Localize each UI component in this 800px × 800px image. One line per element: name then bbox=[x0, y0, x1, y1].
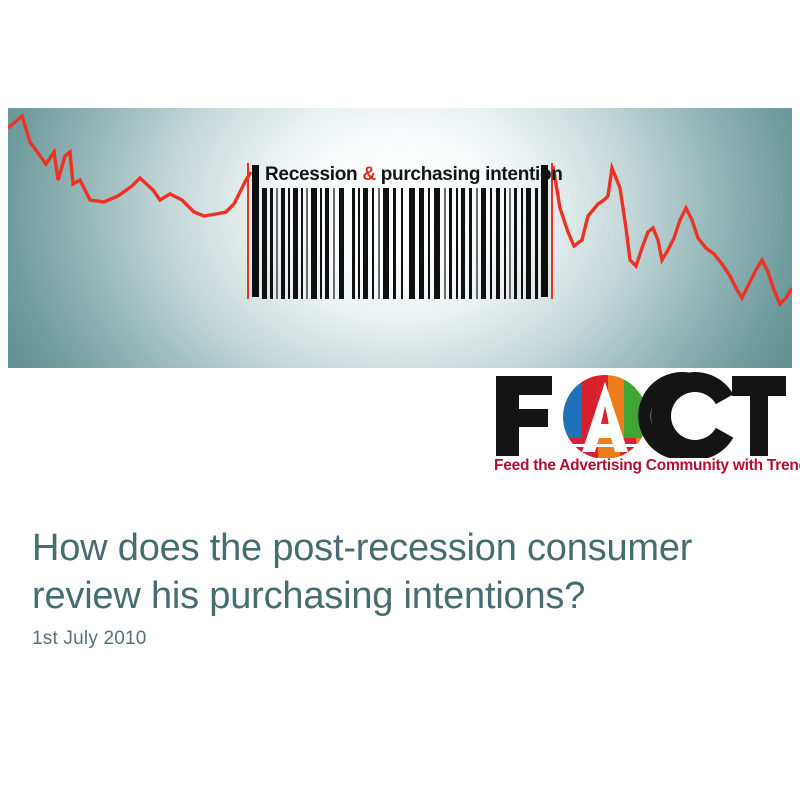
barcode-bar bbox=[496, 188, 500, 299]
logo-letter-f bbox=[496, 376, 552, 456]
trend-line-right bbox=[553, 166, 792, 304]
barcode-bar bbox=[378, 188, 380, 299]
barcode-bar bbox=[444, 188, 446, 299]
barcode-guard-red-left bbox=[247, 163, 249, 299]
barcode-bar bbox=[352, 188, 355, 299]
barcode-bar bbox=[333, 188, 335, 299]
barcode-bar bbox=[401, 188, 403, 299]
fact-tagline: Feed the Advertising Community with Tren… bbox=[494, 457, 790, 475]
barcode-bar bbox=[393, 188, 396, 299]
barcode-bar bbox=[535, 188, 538, 299]
barcode-bar bbox=[281, 188, 285, 299]
barcode-bar bbox=[409, 188, 415, 299]
slide-page: Recession & purchasing intention bbox=[0, 0, 800, 800]
barcode-bar bbox=[372, 188, 374, 299]
recession-banner: Recession & purchasing intention bbox=[8, 108, 792, 368]
page-title-line-2: review his purchasing intentions? bbox=[32, 572, 772, 620]
barcode-bar bbox=[270, 188, 273, 299]
barcode-bar bbox=[428, 188, 430, 299]
barcode-bar bbox=[301, 188, 303, 299]
page-title: How does the post-recession consumer rev… bbox=[32, 524, 772, 620]
barcode-bar bbox=[509, 188, 511, 299]
barcode-bar bbox=[461, 188, 465, 299]
barcode-bar bbox=[363, 188, 368, 299]
barcode-bars bbox=[262, 188, 539, 299]
logo-letter-c bbox=[638, 372, 748, 458]
page-title-line-1: How does the post-recession consumer bbox=[32, 524, 772, 572]
barcode-bar bbox=[476, 188, 478, 299]
barcode-bar bbox=[521, 188, 523, 299]
barcode-bar bbox=[514, 188, 517, 299]
fact-letters-graphic bbox=[492, 372, 790, 458]
barcode-bar bbox=[434, 188, 440, 299]
barcode-bar bbox=[358, 188, 360, 299]
barcode-bar bbox=[383, 188, 389, 299]
barcode-caption-ampersand: & bbox=[362, 164, 375, 185]
barcode-caption-prefix: Recession bbox=[265, 164, 362, 185]
barcode-bar bbox=[325, 188, 329, 299]
barcode-bar bbox=[449, 188, 452, 299]
barcode-bar bbox=[320, 188, 322, 299]
barcode-caption: Recession & purchasing intention bbox=[265, 163, 563, 187]
barcode-caption-suffix: purchasing intention bbox=[376, 164, 563, 185]
trend-line-left bbox=[8, 116, 251, 216]
barcode-guard-bar-left bbox=[252, 165, 259, 297]
barcode-graphic: Recession & purchasing intention bbox=[247, 163, 555, 299]
barcode-bar bbox=[276, 188, 278, 299]
barcode-bar bbox=[490, 188, 492, 299]
barcode-bar bbox=[504, 188, 506, 299]
barcode-bar bbox=[481, 188, 486, 299]
barcode-bar bbox=[262, 188, 267, 299]
barcode-bar bbox=[293, 188, 298, 299]
barcode-bar bbox=[419, 188, 424, 299]
barcode-bar bbox=[469, 188, 472, 299]
barcode-bar bbox=[306, 188, 308, 299]
barcode-bar bbox=[311, 188, 317, 299]
barcode-bar bbox=[339, 188, 344, 299]
barcode-bar bbox=[526, 188, 531, 299]
barcode-bar bbox=[288, 188, 290, 299]
fact-logo: Feed the Advertising Community with Tren… bbox=[492, 372, 790, 478]
barcode-bar bbox=[456, 188, 458, 299]
page-date: 1st July 2010 bbox=[32, 628, 147, 650]
